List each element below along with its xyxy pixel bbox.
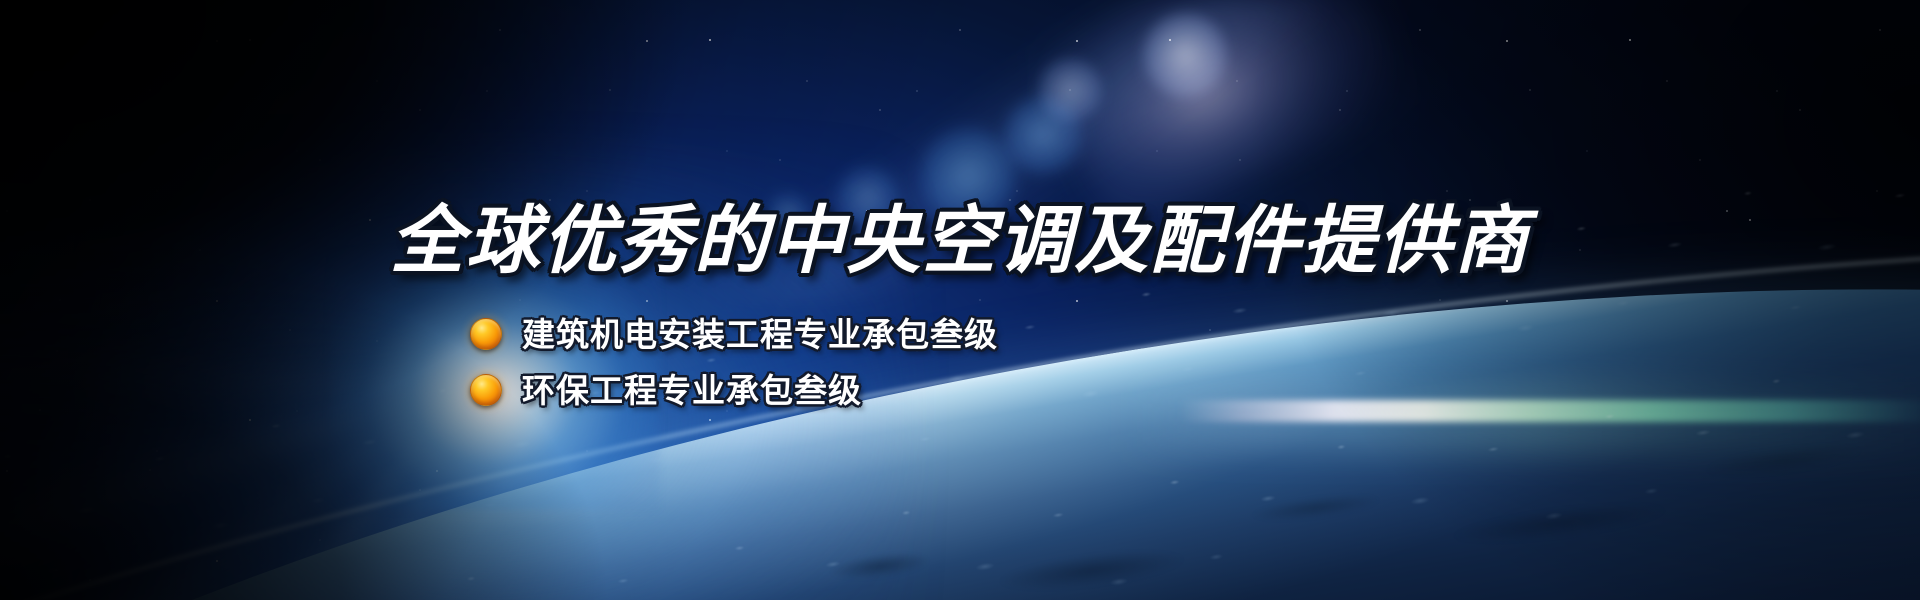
banner-content: 全球优秀的中央空调及配件提供商 建筑机电安装工程专业承包叁级 环保工程专业承包叁… xyxy=(0,0,1920,600)
bullet-item-label: 建筑机电安装工程专业承包叁级 xyxy=(522,318,998,351)
bullet-item: 环保工程专业承包叁级 xyxy=(470,364,998,416)
banner-headline: 全球优秀的中央空调及配件提供商 xyxy=(0,204,1920,278)
orange-dot-icon xyxy=(470,374,502,406)
orange-dot-icon xyxy=(470,318,502,350)
banner-bullet-list: 建筑机电安装工程专业承包叁级 环保工程专业承包叁级 xyxy=(470,308,998,420)
bullet-item-label: 环保工程专业承包叁级 xyxy=(522,374,862,407)
hero-banner: 全球优秀的中央空调及配件提供商 建筑机电安装工程专业承包叁级 环保工程专业承包叁… xyxy=(0,0,1920,600)
bullet-item: 建筑机电安装工程专业承包叁级 xyxy=(470,308,998,360)
